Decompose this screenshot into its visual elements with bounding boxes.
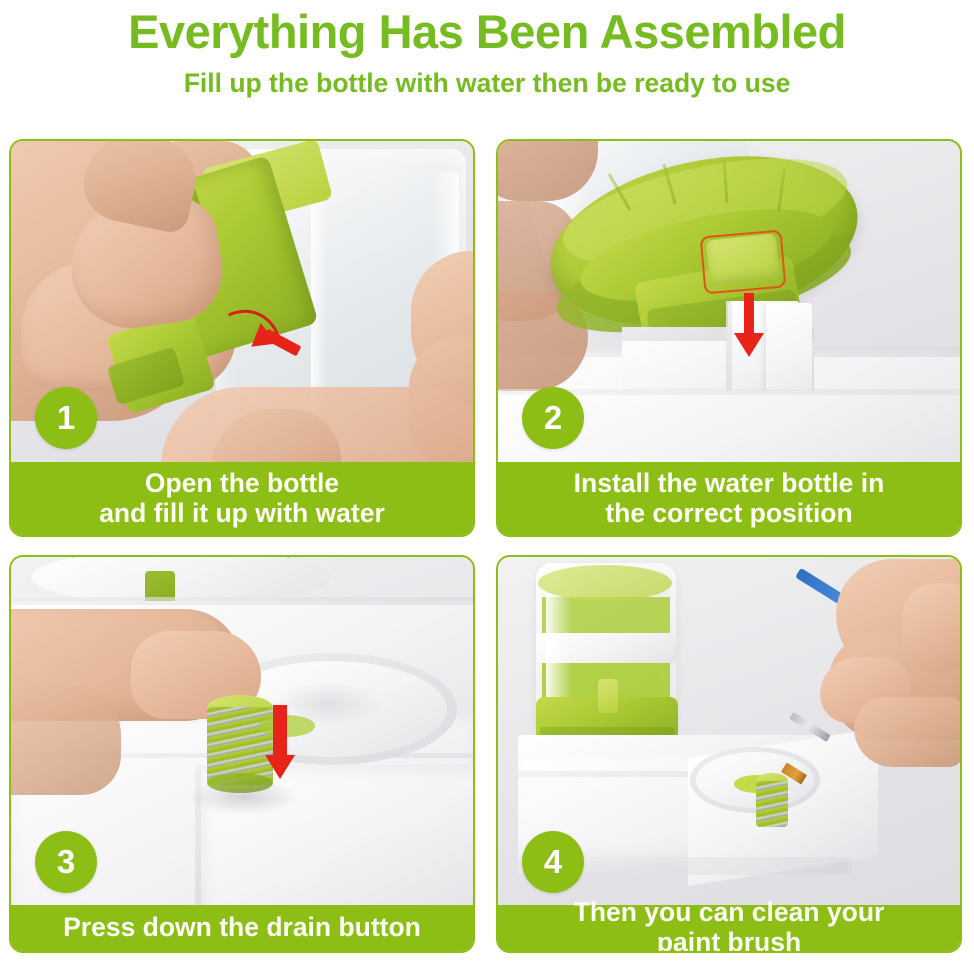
step-badge-2: 2 bbox=[522, 387, 584, 449]
step-caption-4: Then you can clean your paint brush bbox=[498, 905, 960, 951]
step-1-caption-line-1: Open the bottle bbox=[99, 469, 385, 499]
step-4-caption-line-1: Then you can clean your bbox=[574, 898, 885, 928]
step-panel-4: 4 Then you can clean your paint brush bbox=[496, 555, 962, 953]
step-1-caption-line-2: and fill it up with water bbox=[99, 499, 385, 529]
step-2-caption-line-2: the correct position bbox=[574, 499, 885, 529]
page-title: Everything Has Been Assembled bbox=[0, 6, 974, 59]
step-caption-2: Install the water bottle in the correct … bbox=[498, 462, 960, 535]
step-panel-1: 1 Open the bottle and fill it up with wa… bbox=[9, 139, 475, 537]
page-subtitle: Fill up the bottle with water then be re… bbox=[0, 69, 974, 98]
step-caption-1: Open the bottle and fill it up with wate… bbox=[11, 462, 473, 535]
step-badge-3: 3 bbox=[35, 831, 97, 893]
step-panel-2: 2 Install the water bottle in the correc… bbox=[496, 139, 962, 537]
steps-grid: 1 Open the bottle and fill it up with wa… bbox=[9, 139, 965, 953]
red-down-arrow-icon bbox=[265, 755, 295, 779]
step-caption-3: Press down the drain button bbox=[11, 905, 473, 951]
step-3-caption-line-1: Press down the drain button bbox=[63, 913, 421, 943]
red-arrow-stem bbox=[273, 705, 287, 761]
step-badge-4: 4 bbox=[522, 831, 584, 893]
step-4-caption-line-2: paint brush bbox=[574, 928, 885, 953]
orange-highlight-box bbox=[700, 230, 787, 295]
step-panel-3: 3 Press down the drain button bbox=[9, 555, 475, 953]
header: Everything Has Been Assembled Fill up th… bbox=[0, 0, 974, 98]
red-down-arrow-icon bbox=[734, 333, 764, 357]
step-badge-1: 1 bbox=[35, 387, 97, 449]
step-2-caption-line-1: Install the water bottle in bbox=[574, 469, 885, 499]
